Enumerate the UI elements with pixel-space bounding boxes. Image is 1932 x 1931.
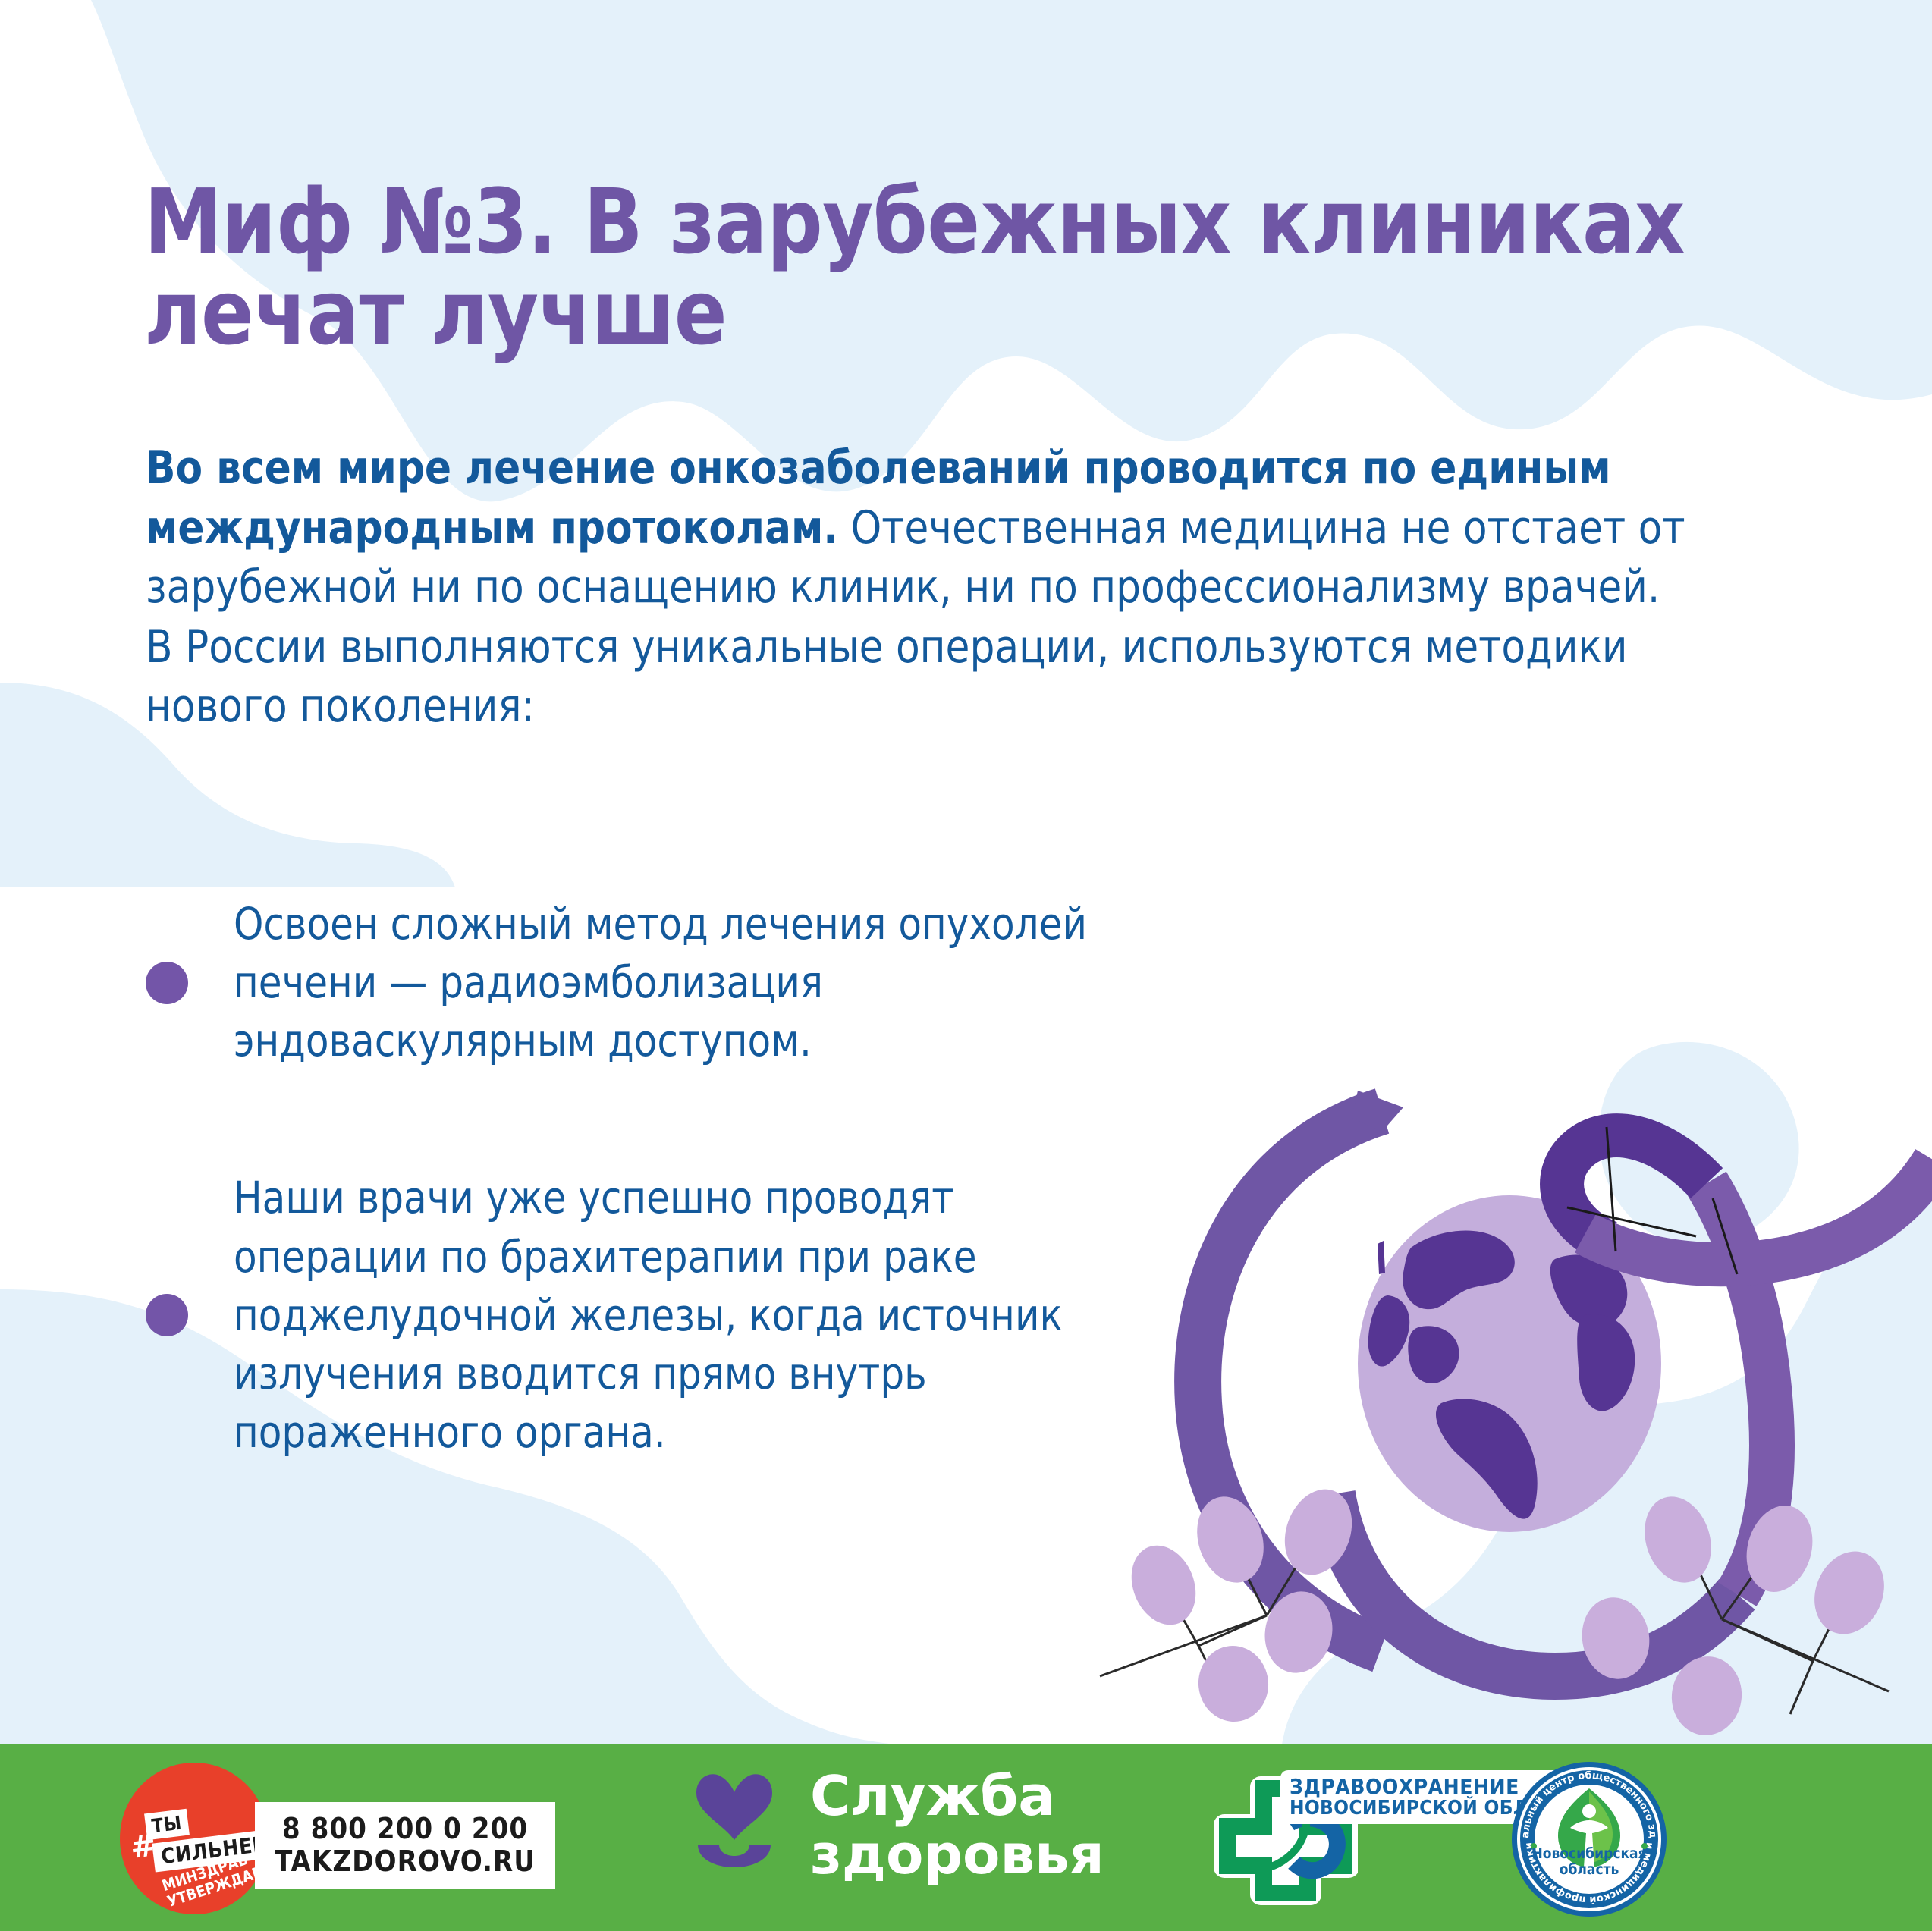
- sluzhba-zdorovya-text: Служба здоровья: [810, 1767, 1104, 1884]
- ribbon-right-stem: [1707, 1183, 1772, 1594]
- list-item: Освоен сложный метод лечения опухолей пе…: [146, 895, 1663, 1070]
- seal-center-line1: Новосибирская: [1511, 1846, 1667, 1862]
- seal-center-line2: область: [1511, 1862, 1667, 1878]
- bullet-dot-icon: [146, 962, 188, 1004]
- ribbon-bottom-arc: [1332, 1494, 1737, 1676]
- minzdrav-nso-logo-group: ЗДРАВООХРАНЕНИЕ НОВОСИБИРСКОЙ ОБЛАСТИ: [1214, 1767, 1502, 1911]
- hotline-website: TAKZDOROVO.RU: [275, 1845, 536, 1878]
- seal-graphic: Региональный центр общественного здоровь…: [1511, 1761, 1667, 1917]
- list-item-text: Освоен сложный метод лечения опухолей пе…: [234, 895, 1195, 1070]
- infographic-poster: Миф №3. В зарубежных клиниках лечат лучш…: [0, 0, 1932, 1931]
- hotline-phone: 8 800 200 0 200: [275, 1813, 536, 1845]
- list-item: Наши врачи уже успешно проводят операции…: [146, 1169, 1663, 1462]
- ty-silnee-logo: # ТЫ СИЛЬНЕЕ МИНЗДРАВ УТВЕРЖДАЕТ!: [120, 1763, 269, 1914]
- ty-silnee-line1: ТЫ: [144, 1809, 190, 1841]
- leaf-branch-left: [1100, 1480, 1363, 1725]
- sluzhba-zdorovya-logo-group: Служба здоровья: [692, 1767, 1104, 1884]
- regional-center-seal: Региональный центр общественного здоровь…: [1511, 1761, 1667, 1917]
- list-item-text: Наши врачи уже успешно проводят операции…: [234, 1169, 1093, 1462]
- bullet-list: Освоен сложный метод лечения опухолей пе…: [146, 895, 1663, 1507]
- hotline-box: 8 800 200 0 200 TAKZDOROVO.RU: [255, 1802, 555, 1889]
- takzdorovo-logo-group: # ТЫ СИЛЬНЕЕ МИНЗДРАВ УТВЕРЖДАЕТ! 8 800 …: [120, 1758, 514, 1919]
- heart-smile-icon: [692, 1769, 777, 1882]
- footer-bar: # ТЫ СИЛЬНЕЕ МИНЗДРАВ УТВЕРЖДАЕТ! 8 800 …: [0, 1744, 1932, 1931]
- bullet-dot-icon: [146, 1294, 188, 1336]
- sluzhba-line1: Служба: [810, 1767, 1104, 1826]
- lead-paragraph: Во всем мире лечение онкозаболеваний про…: [146, 438, 1689, 736]
- page-title: Миф №3. В зарубежных клиниках лечат лучш…: [144, 176, 1755, 359]
- sluzhba-line2: здоровья: [810, 1826, 1104, 1884]
- seal-center-text: Новосибирская область: [1511, 1846, 1667, 1877]
- leaf-branch-right: [1575, 1488, 1896, 1740]
